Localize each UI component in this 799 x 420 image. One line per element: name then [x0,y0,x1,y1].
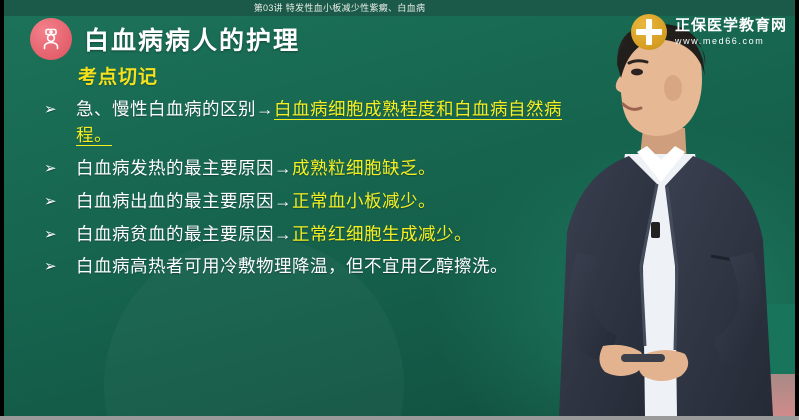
bullet-item: ➢白血病出血的最主要原因→正常血小板减少。 [30,189,590,215]
page-title: 白血病病人的护理 [84,21,300,57]
brand-name: 正保医学教育网 [675,18,787,33]
bullet-marker-icon: ➢ [30,254,76,278]
video-lecture-frame: 第03讲 特发性血小板减少性紫癜、白血病 正保医学教育网 www.med66.c… [0,0,799,420]
bullet-marker-icon: ➢ [30,222,76,246]
bullet-text-part: 白血病出血的最主要原因→ [76,191,292,211]
section-heading: 考点切记 [78,62,590,89]
bullet-item: ➢白血病高热者可用冷敷物理降温，但不宜用乙醇擦洗。 [30,254,590,280]
bullet-text-part: 白血病贫血的最主要原因→ [76,224,292,244]
bullet-item: ➢白血病发热的最主要原因→成熟粒细胞缺乏。 [30,156,590,182]
frame-border-left [0,0,4,420]
lecture-title: 第03讲 特发性血小板减少性紫癜、白血病 [4,1,795,15]
bullet-text-part: 成熟粒细胞缺乏。 [292,158,436,178]
bullet-text-part: 白血病发热的最主要原因→ [76,158,292,178]
cross-in-circle-icon [631,14,667,50]
bullet-item: ➢急、慢性白血病的区别→白血病细胞成熟程度和白血病自然病程。 [30,97,590,149]
nurse-avatar-icon [30,18,72,60]
bullet-text-part: 正常红细胞生成减少。 [292,224,472,244]
brand-logo: 正保医学教育网 www.med66.com [631,14,787,50]
bullet-text: 白血病发热的最主要原因→成熟粒细胞缺乏。 [76,156,590,182]
frame-border-right [795,0,799,420]
bullet-text-part: 白血病高热者可用冷敷物理降温，但不宜用乙醇擦洗。 [76,256,508,276]
slide-title-row: 白血病病人的护理 [30,18,300,60]
bullet-text: 急、慢性白血病的区别→白血病细胞成熟程度和白血病自然病程。 [76,97,590,149]
bullet-text: 白血病高热者可用冷敷物理降温，但不宜用乙醇擦洗。 [76,254,590,280]
bullet-marker-icon: ➢ [30,189,76,213]
bullet-item: ➢白血病贫血的最主要原因→正常红细胞生成减少。 [30,222,590,248]
bullet-text: 白血病贫血的最主要原因→正常红细胞生成减少。 [76,222,590,248]
bullet-marker-icon: ➢ [30,156,76,180]
bullet-text: 白血病出血的最主要原因→正常血小板减少。 [76,189,590,215]
bullet-text-part: 急、慢性白血病的区别→ [76,99,274,119]
bullet-list: ➢急、慢性白血病的区别→白血病细胞成熟程度和白血病自然病程。➢白血病发热的最主要… [30,97,590,280]
slide-content: 考点切记 ➢急、慢性白血病的区别→白血病细胞成熟程度和白血病自然病程。➢白血病发… [30,62,590,287]
brand-url: www.med66.com [675,37,787,46]
player-progress-bar[interactable] [0,416,799,420]
bullet-marker-icon: ➢ [30,97,76,121]
bullet-text-part: 正常血小板减少。 [292,191,436,211]
